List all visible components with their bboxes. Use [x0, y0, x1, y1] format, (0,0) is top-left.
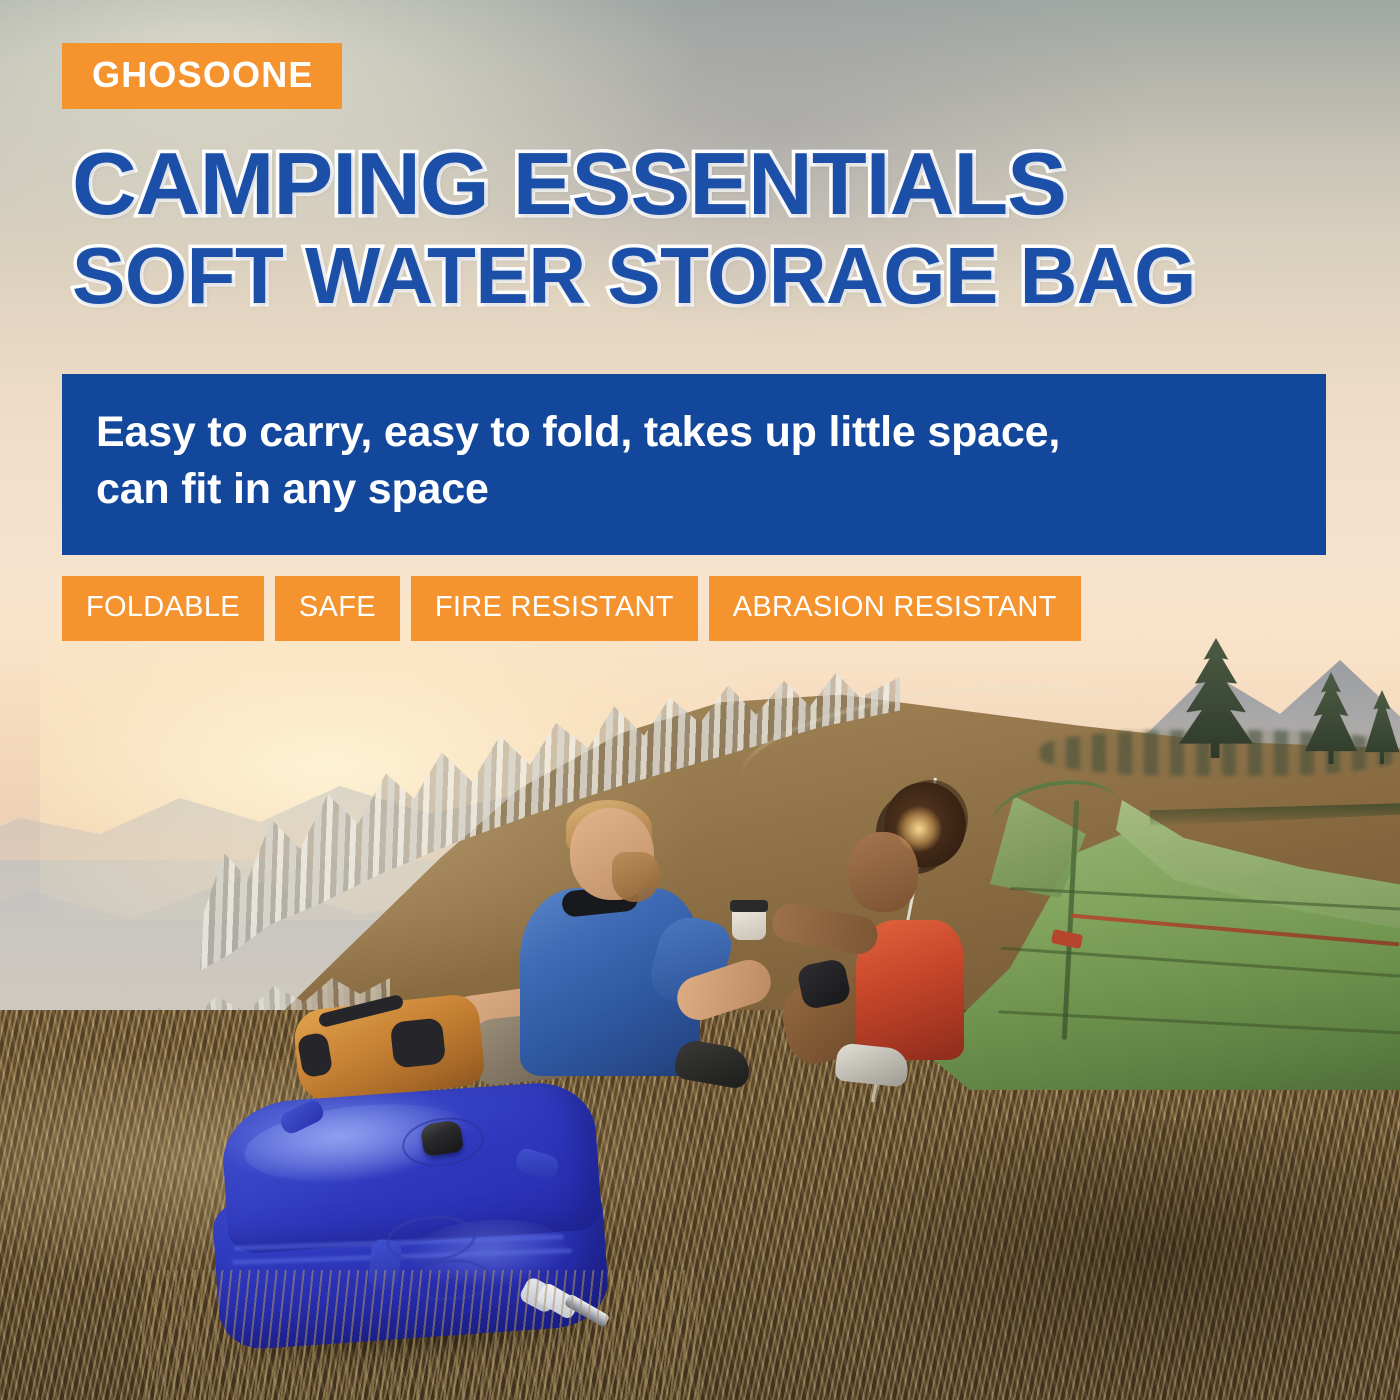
feature-tag-row: FOLDABLE SAFE FIRE RESISTANT ABRASION RE…: [62, 576, 1081, 641]
headline-line-2: SOFT WATER STORAGE BAG: [72, 238, 1352, 314]
headline-block: CAMPING ESSENTIALS SOFT WATER STORAGE BA…: [72, 142, 1352, 314]
feature-tag-safe: SAFE: [275, 576, 400, 641]
grass-shadow-right: [820, 1120, 1400, 1400]
headline-line-1: CAMPING ESSENTIALS: [72, 142, 1378, 226]
feature-tag-foldable: FOLDABLE: [62, 576, 264, 641]
description-line-2: can fit in any space: [96, 461, 1292, 518]
brand-badge: GHOSOONE: [62, 43, 342, 109]
bag-screw-cap: [420, 1119, 464, 1156]
description-banner: Easy to carry, easy to fold, takes up li…: [62, 374, 1326, 555]
backpack-strap: [390, 1017, 447, 1068]
feature-tag-fire-resistant: FIRE RESISTANT: [411, 576, 698, 641]
water-storage-bag: [216, 1092, 606, 1340]
description-line-1: Easy to carry, easy to fold, takes up li…: [96, 404, 1292, 461]
product-marketing-poster: GHOSOONE CAMPING ESSENTIALS SOFT WATER S…: [0, 0, 1400, 1400]
camp-cup-lid: [730, 900, 768, 912]
lens-flare: [896, 806, 942, 852]
feature-tag-abrasion-resistant: ABRASION RESISTANT: [709, 576, 1081, 641]
